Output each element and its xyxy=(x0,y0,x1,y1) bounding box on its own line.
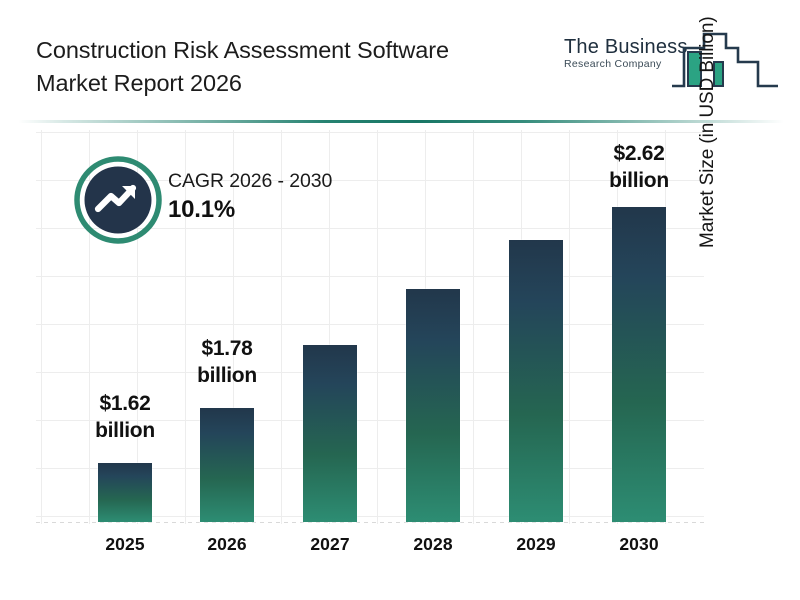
company-logo: The Business Research Company xyxy=(560,28,780,100)
value-label-2025: $1.62 billion xyxy=(72,390,178,444)
cagr-text-block: CAGR 2026 - 2030 10.1% xyxy=(168,168,332,226)
bar-fill xyxy=(612,207,666,522)
chart-infographic: Construction Risk Assessment Software Ma… xyxy=(0,0,800,600)
cagr-value-label: 10.1% xyxy=(168,194,332,226)
bar-fill xyxy=(98,463,152,522)
bar-fill xyxy=(303,345,357,522)
bar-2025 xyxy=(98,463,152,522)
bar-2026 xyxy=(200,408,254,522)
bar-2029 xyxy=(509,240,563,522)
x-axis-label-2026: 2026 xyxy=(174,534,280,555)
x-axis-label-2030: 2030 xyxy=(586,534,692,555)
y-axis-title: Market Size (in USD Billion) xyxy=(697,0,723,248)
cagr-period-label: CAGR 2026 - 2030 xyxy=(168,168,332,194)
bar-chart-logo-mark-icon xyxy=(670,28,780,96)
cagr-callout: CAGR 2026 - 2030 10.1% xyxy=(74,156,404,246)
value-label-2030: $2.62 billion xyxy=(586,140,692,194)
chart-baseline-axis xyxy=(36,522,704,523)
bar-fill xyxy=(509,240,563,522)
value-label-2026: $1.78 billion xyxy=(174,335,280,389)
x-axis-label-2025: 2025 xyxy=(72,534,178,555)
x-axis-label-2029: 2029 xyxy=(483,534,589,555)
bar-2028 xyxy=(406,289,460,522)
page-title: Construction Risk Assessment Software Ma… xyxy=(36,34,546,100)
bar-fill xyxy=(200,408,254,522)
trending-up-icon xyxy=(74,156,162,244)
header-divider xyxy=(18,120,784,123)
bar-2027 xyxy=(303,345,357,522)
header: Construction Risk Assessment Software Ma… xyxy=(0,0,800,118)
bar-2030 xyxy=(612,207,666,522)
x-axis-label-2028: 2028 xyxy=(380,534,486,555)
x-axis-label-2027: 2027 xyxy=(277,534,383,555)
bar-fill xyxy=(406,289,460,522)
